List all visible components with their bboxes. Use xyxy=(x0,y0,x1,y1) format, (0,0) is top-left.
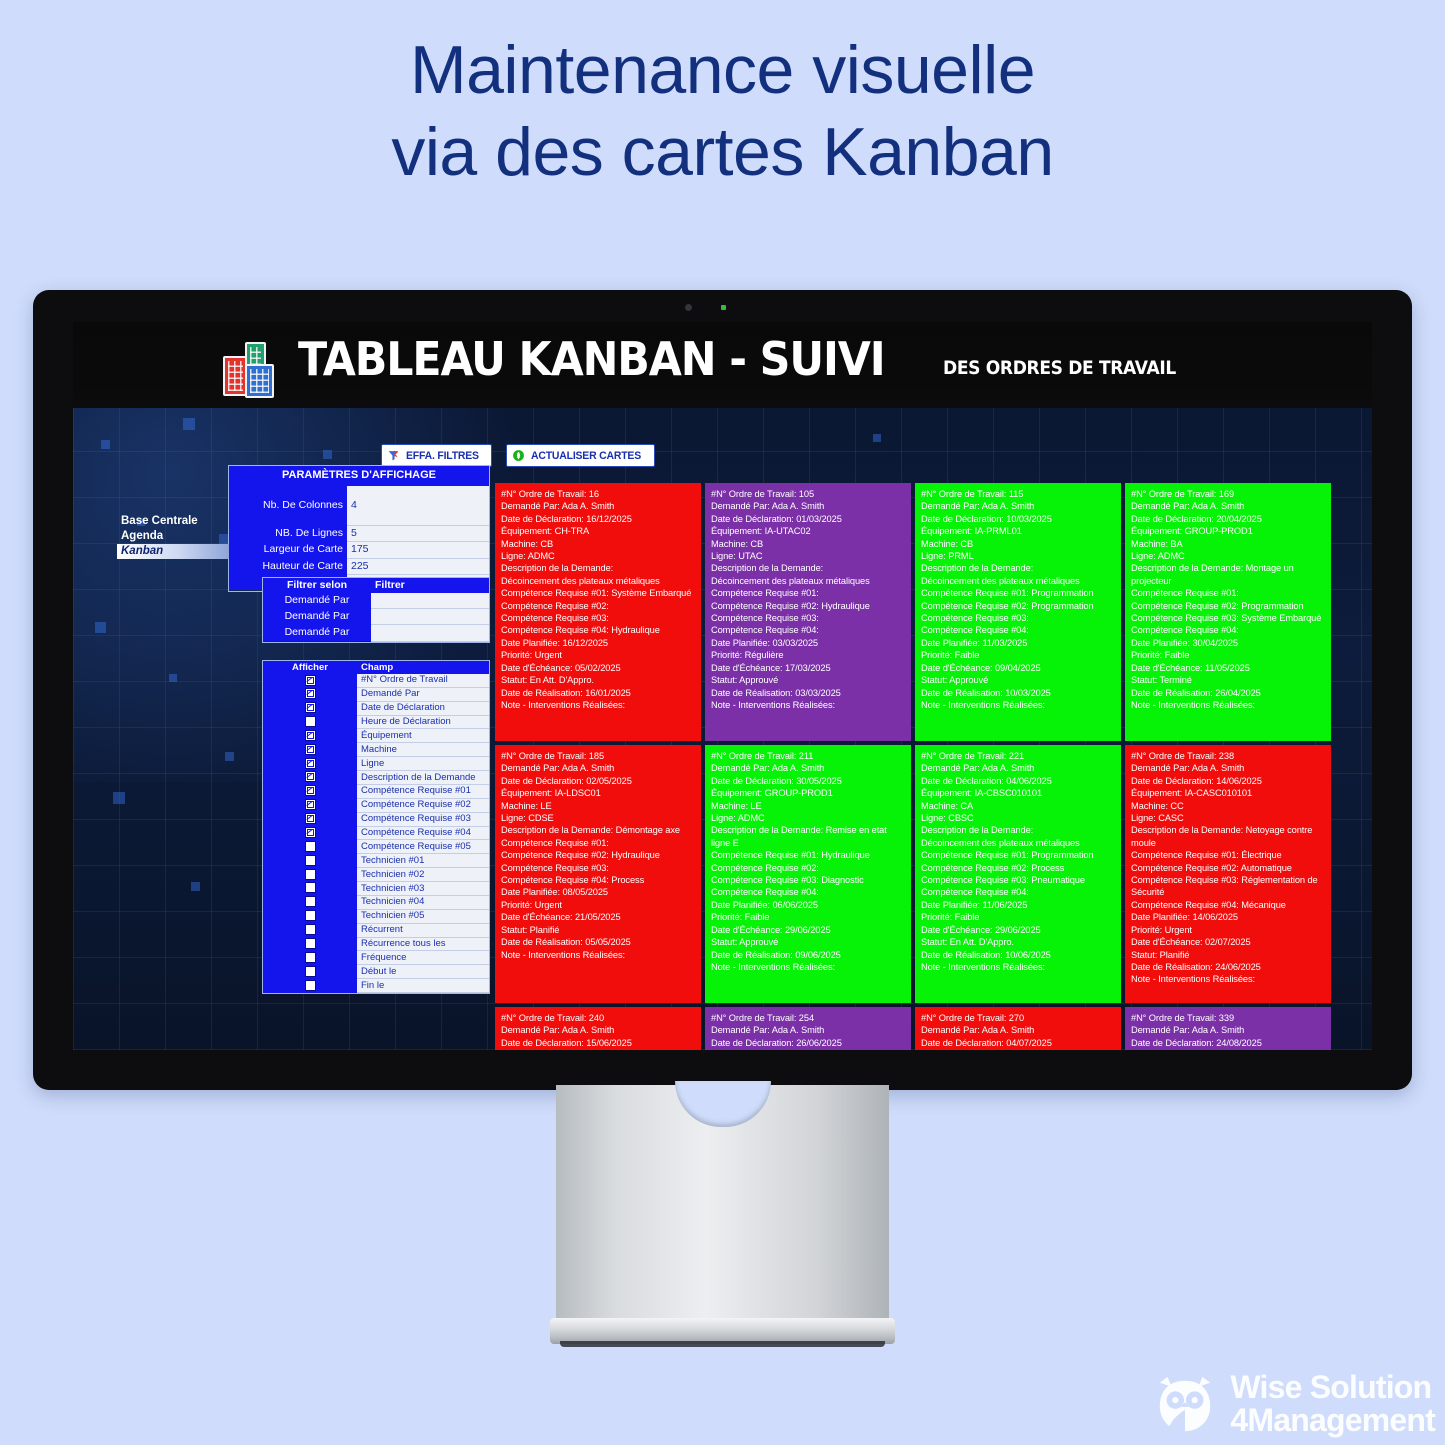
kanban-card-line: #N° Ordre de Travail: 270 xyxy=(921,1012,1115,1024)
kanban-card-line: Ligne: CDSE xyxy=(501,812,695,824)
field-visibility-checkbox-cell[interactable] xyxy=(263,882,357,896)
decor-node xyxy=(873,434,881,442)
table-row: Technicien #03 xyxy=(263,882,489,896)
kanban-card-line: Date d'Échéance: 17/03/2025 xyxy=(711,662,905,674)
kanban-card-line: Machine: BA xyxy=(1131,538,1325,550)
owl-logo-icon xyxy=(1154,1373,1216,1435)
kanban-card-line: Compétence Requise #01: xyxy=(501,837,695,849)
sidebar-item-label: Kanban xyxy=(121,545,163,557)
kanban-card-line: Équipement: IA-LDSC01 xyxy=(501,787,695,799)
kanban-card[interactable]: #N° Ordre de Travail: 16Demandé Par: Ada… xyxy=(495,483,701,741)
field-name-cell: Heure de Déclaration xyxy=(357,715,489,729)
checkbox-unchecked-icon[interactable] xyxy=(305,869,316,880)
field-visibility-checkbox-cell[interactable] xyxy=(263,674,357,687)
kanban-card-line: Date de Déclaration: 04/06/2025 xyxy=(921,775,1115,787)
checkbox-checked-icon[interactable] xyxy=(305,758,316,769)
kanban-card-line: #N° Ordre de Travail: 211 xyxy=(711,750,905,762)
kanban-card-line: Date de Réalisation: 24/06/2025 xyxy=(1131,961,1325,973)
checkbox-unchecked-icon[interactable] xyxy=(305,980,316,991)
field-visibility-checkbox-cell[interactable] xyxy=(263,757,357,771)
sidebar-item-kanban[interactable]: Kanban xyxy=(117,544,229,559)
checkbox-unchecked-icon[interactable] xyxy=(305,952,316,963)
kanban-card-line: Date de Réalisation: 09/06/2025 xyxy=(711,949,905,961)
kanban-card-line: Date de Déclaration: 10/03/2025 xyxy=(921,513,1115,525)
kanban-card-line: Compétence Requise #02: Programmation xyxy=(1131,600,1325,612)
filter-field-2[interactable]: Demandé Par xyxy=(263,625,371,641)
table-row: Demandé Par xyxy=(263,687,489,701)
table-row: Demandé Par xyxy=(263,593,489,609)
kanban-card-line: Machine: CA xyxy=(921,800,1115,812)
kanban-card[interactable]: #N° Ordre de Travail: 211Demandé Par: Ad… xyxy=(705,745,911,1003)
field-visibility-checkbox-cell[interactable] xyxy=(263,715,357,729)
field-name-cell: Compétence Requise #03 xyxy=(357,812,489,826)
kanban-card-line: #N° Ordre de Travail: 115 xyxy=(921,488,1115,500)
filter-panel: Filtrer selon Filtrer Demandé Par Demand… xyxy=(262,577,490,643)
kanban-card-line: Demandé Par: Ada A. Smith xyxy=(1131,762,1325,774)
decor-node xyxy=(169,674,177,682)
monitor-stand-notch xyxy=(675,1081,771,1127)
kanban-card-line: Équipement: IA-CBSC010101 xyxy=(921,787,1115,799)
table-row: Demandé Par xyxy=(263,625,489,641)
field-name-cell: Compétence Requise #01 xyxy=(357,784,489,798)
decor-node xyxy=(183,418,195,430)
filter-field-0[interactable]: Demandé Par xyxy=(263,593,371,609)
checkbox-checked-icon[interactable] xyxy=(305,785,316,796)
kanban-card-line: Note - Interventions Réalisées: xyxy=(921,961,1115,973)
page-title: Maintenance visuelle via des cartes Kanb… xyxy=(0,36,1445,186)
clear-filter-icon xyxy=(387,449,400,462)
kanban-card-line: Compétence Requise #03: xyxy=(711,612,905,624)
field-visibility-checkbox-cell[interactable] xyxy=(263,909,357,923)
kanban-card-line: Date Planifiée: 16/12/2025 xyxy=(501,637,695,649)
kanban-card-line: Demandé Par: Ada A. Smith xyxy=(711,762,905,774)
kanban-card-line: Note - Interventions Réalisées: xyxy=(501,949,695,961)
kanban-card-line: Date de Déclaration: 16/12/2025 xyxy=(501,513,695,525)
field-rows-body: #N° Ordre de TravailDemandé ParDate de D… xyxy=(263,674,489,993)
checkbox-checked-icon[interactable] xyxy=(305,688,316,699)
field-name-cell: Technicien #05 xyxy=(357,909,489,923)
filter-input-0[interactable] xyxy=(371,593,489,609)
decor-node xyxy=(191,882,200,891)
nb-lignes-label: NB. De Lignes xyxy=(229,526,347,542)
kanban-card-line: #N° Ordre de Travail: 185 xyxy=(501,750,695,762)
field-name-cell: Équipement xyxy=(357,729,489,743)
largeur-carte-value[interactable]: 175 xyxy=(347,542,489,558)
checkbox-unchecked-icon[interactable] xyxy=(305,855,316,866)
field-visibility-table: Afficher Champ #N° Ordre de TravailDeman… xyxy=(263,661,489,993)
camera-icon xyxy=(685,304,692,311)
kanban-card-line: Description de la Demande: xyxy=(501,562,695,574)
table-row: NB. De Lignes 5 xyxy=(229,526,489,542)
kanban-card-line: Priorité: Urgent xyxy=(501,649,695,661)
field-name-cell: Fin le xyxy=(357,979,489,993)
field-name-cell: Compétence Requise #05 xyxy=(357,840,489,854)
decor-node xyxy=(323,450,332,459)
field-visibility-checkbox-cell[interactable] xyxy=(263,840,357,854)
table-row: #N° Ordre de Travail xyxy=(263,674,489,687)
field-visibility-checkbox-cell[interactable] xyxy=(263,687,357,701)
field-name-cell: Date de Déclaration xyxy=(357,701,489,715)
field-visibility-checkbox-cell[interactable] xyxy=(263,701,357,715)
kanban-card-line: Date d'Échéance: 21/05/2025 xyxy=(501,911,695,923)
kanban-card-line: Note - Interventions Réalisées: xyxy=(711,961,905,973)
kanban-card-line: #N° Ordre de Travail: 254 xyxy=(711,1012,905,1024)
kanban-card[interactable]: #N° Ordre de Travail: 270Demandé Par: Ad… xyxy=(915,1007,1121,1050)
kanban-card[interactable]: #N° Ordre de Travail: 185Demandé Par: Ad… xyxy=(495,745,701,1003)
kanban-card-line: Compétence Requise #01: Hydraulique xyxy=(711,849,905,861)
checkbox-checked-icon[interactable] xyxy=(305,675,316,686)
table-row: Début le xyxy=(263,965,489,979)
field-visibility-checkbox-cell[interactable] xyxy=(263,937,357,951)
kanban-card-line: Compétence Requise #01: xyxy=(711,587,905,599)
checkbox-unchecked-icon[interactable] xyxy=(305,966,316,977)
kanban-card[interactable]: #N° Ordre de Travail: 240Demandé Par: Ad… xyxy=(495,1007,701,1050)
table-row: Technicien #04 xyxy=(263,895,489,909)
kanban-card-line: Priorité: Faible xyxy=(921,911,1115,923)
kanban-card-line: Description de la Demande: Montage un pr… xyxy=(1131,562,1325,587)
field-visibility-checkbox-cell[interactable] xyxy=(263,965,357,979)
kanban-card-line: Équipement: GROUP-PROD1 xyxy=(1131,525,1325,537)
decor-node xyxy=(95,622,106,633)
screen-content: TABLEAU KANBAN - SUIVI DES ORDRES DE TRA… xyxy=(73,322,1372,1050)
kanban-card-line: Demandé Par: Ada A. Smith xyxy=(921,762,1115,774)
filter-table: Filtrer selon Filtrer Demandé Par Demand… xyxy=(263,578,489,642)
kanban-card-line: Équipement: IA-UTAC02 xyxy=(711,525,905,537)
checkbox-unchecked-icon[interactable] xyxy=(305,882,316,893)
brand-watermark-text: Wise Solution 4Management xyxy=(1230,1371,1435,1437)
kanban-card-line: Statut: Approuvé xyxy=(921,674,1115,686)
kanban-card-line: Description de la Demande: xyxy=(921,824,1115,836)
kanban-card[interactable]: #N° Ordre de Travail: 339Demandé Par: Ad… xyxy=(1125,1007,1331,1050)
table-row: Ligne xyxy=(263,757,489,771)
filter-col1-header: Filtrer selon xyxy=(263,578,371,593)
nb-colonnes-label: Nb. De Colonnes xyxy=(229,486,347,526)
kanban-card[interactable]: #N° Ordre de Travail: 115Demandé Par: Ad… xyxy=(915,483,1121,741)
field-name-cell: Fréquence xyxy=(357,951,489,965)
field-visibility-checkbox-cell[interactable] xyxy=(263,923,357,937)
kanban-card-line: Ligne: ADMC xyxy=(711,812,905,824)
checkbox-unchecked-icon[interactable] xyxy=(305,924,316,935)
kanban-card-line: Date de Déclaration: 24/08/2025 xyxy=(1131,1037,1325,1049)
monitor-frame: TABLEAU KANBAN - SUIVI DES ORDRES DE TRA… xyxy=(33,290,1412,1090)
field-visibility-checkbox-cell[interactable] xyxy=(263,743,357,757)
kanban-card-line: Décoincement des plateaux métaliques xyxy=(921,575,1115,587)
kanban-card-line: Note - Interventions Réalisées: xyxy=(921,699,1115,711)
kanban-card-line: Décoincement des plateaux métaliques xyxy=(921,837,1115,849)
toolbar: EFFA. FILTRES ACTUALISER CARTES xyxy=(381,444,655,467)
checkbox-unchecked-icon[interactable] xyxy=(305,716,316,727)
kanban-card-line: Statut: Terminé xyxy=(1131,674,1325,686)
decor-node xyxy=(113,792,125,804)
nb-colonnes-value[interactable]: 4 xyxy=(347,486,489,526)
table-row: Compétence Requise #05 xyxy=(263,840,489,854)
kanban-card-line: Compétence Requise #03: Réglementation d… xyxy=(1131,874,1325,899)
field-name-cell: Récurrence tous les xyxy=(357,937,489,951)
checkbox-unchecked-icon[interactable] xyxy=(305,841,316,852)
clear-filters-button[interactable]: EFFA. FILTRES xyxy=(381,444,492,467)
kanban-card-line: Compétence Requise #01: Électrique xyxy=(1131,849,1325,861)
sidebar-nav: Base Centrale Agenda Kanban xyxy=(117,514,229,559)
field-visibility-checkbox-cell[interactable] xyxy=(263,812,357,826)
field-visibility-checkbox-cell[interactable] xyxy=(263,868,357,882)
monitor-stand-base-shadow xyxy=(560,1341,885,1347)
table-row: Description de la Demande xyxy=(263,771,489,785)
checkbox-checked-icon[interactable] xyxy=(305,771,316,782)
kanban-card-line: #N° Ordre de Travail: 238 xyxy=(1131,750,1325,762)
kanban-card-line: Demandé Par: Ada A. Smith xyxy=(711,1024,905,1036)
largeur-carte-label: Largeur de Carte xyxy=(229,542,347,558)
hauteur-carte-value[interactable]: 225 xyxy=(347,558,489,574)
kanban-card-line: Date de Déclaration: 14/06/2025 xyxy=(1131,775,1325,787)
kanban-card-line: Date d'Échéance: 29/06/2025 xyxy=(711,924,905,936)
kanban-card-line: Compétence Requise #04: xyxy=(711,886,905,898)
kanban-card-line: Compétence Requise #04: Hydraulique xyxy=(501,624,695,636)
kanban-card-line: Machine: CB xyxy=(921,538,1115,550)
kanban-card-line: Ligne: UTAC xyxy=(711,550,905,562)
kanban-card-line: Priorité: Faible xyxy=(921,649,1115,661)
kanban-card-line: Machine: LE xyxy=(501,800,695,812)
kanban-card-line: Date Planifiée: 03/03/2025 xyxy=(711,637,905,649)
kanban-card-line: Demandé Par: Ada A. Smith xyxy=(1131,1024,1325,1036)
field-visibility-checkbox-cell[interactable] xyxy=(263,854,357,868)
field-visibility-checkbox-cell[interactable] xyxy=(263,729,357,743)
kanban-card-line: Priorité: Faible xyxy=(711,911,905,923)
kanban-card-line: Compétence Requise #04: Mécanique xyxy=(1131,899,1325,911)
refresh-cards-label: ACTUALISER CARTES xyxy=(531,450,641,462)
kanban-card-line: Description de la Demande: xyxy=(711,562,905,574)
filter-input-1[interactable] xyxy=(371,609,489,625)
filter-col2-header: Filtrer xyxy=(371,578,489,593)
field-name-cell: #N° Ordre de Travail xyxy=(357,674,489,687)
status-led-icon xyxy=(721,305,726,310)
filter-field-1[interactable]: Demandé Par xyxy=(263,609,371,625)
decor-node xyxy=(101,440,110,449)
kanban-card-line: Note - Interventions Réalisées: xyxy=(1131,973,1325,985)
page-title-line-2: via des cartes Kanban xyxy=(0,118,1445,186)
checkbox-unchecked-icon[interactable] xyxy=(305,910,316,921)
kanban-board: #N° Ordre de Travail: 16Demandé Par: Ada… xyxy=(495,483,1341,1050)
kanban-card-line: Demandé Par: Ada A. Smith xyxy=(921,1024,1115,1036)
kanban-card-line: Équipement: CH-TRA xyxy=(501,525,695,537)
kanban-card-line: Équipement: IA-CASC010101 xyxy=(921,1049,1115,1050)
checkbox-checked-icon[interactable] xyxy=(305,702,316,713)
kanban-card-line: Date de Déclaration: 20/04/2025 xyxy=(1131,513,1325,525)
kanban-card-line: Date de Réalisation: 16/01/2025 xyxy=(501,687,695,699)
refresh-cards-button[interactable]: ACTUALISER CARTES xyxy=(506,444,656,467)
kanban-card-line: Compétence Requise #02: xyxy=(711,862,905,874)
kanban-card-line: Note - Interventions Réalisées: xyxy=(501,699,695,711)
kanban-card-line: Compétence Requise #04: xyxy=(921,886,1115,898)
kanban-card-line: Date de Déclaration: 01/03/2025 xyxy=(711,513,905,525)
kanban-card-line: Machine: LE xyxy=(711,800,905,812)
kanban-card-line: Compétence Requise #02: Programmation xyxy=(921,600,1115,612)
kanban-card-line: Date Planifiée: 08/05/2025 xyxy=(501,886,695,898)
kanban-card-line: #N° Ordre de Travail: 169 xyxy=(1131,488,1325,500)
kanban-card-line: Date d'Échéance: 29/06/2025 xyxy=(921,924,1115,936)
kanban-card-line: Compétence Requise #01: Système Embarqué xyxy=(501,587,695,599)
kanban-card-line: Décoincement des plateaux métaliques xyxy=(501,575,695,587)
field-visibility-checkbox-cell[interactable] xyxy=(263,798,357,812)
kanban-card-line: Priorité: Faible xyxy=(1131,649,1325,661)
kanban-card-line: Équipement: IA-CBSC010101 xyxy=(501,1049,695,1050)
kanban-card-line: Date Planifiée: 06/06/2025 xyxy=(711,899,905,911)
kanban-card-line: Demandé Par: Ada A. Smith xyxy=(501,500,695,512)
kanban-blocks-logo-icon xyxy=(223,342,283,394)
field-visibility-checkbox-cell[interactable] xyxy=(263,895,357,909)
kanban-card-line: #N° Ordre de Travail: 240 xyxy=(501,1012,695,1024)
kanban-card-line: Ligne: CBSC xyxy=(921,812,1115,824)
kanban-card-line: Date de Réalisation: 26/04/2025 xyxy=(1131,687,1325,699)
kanban-card-line: Ligne: PRML xyxy=(921,550,1115,562)
kanban-card-line: Date Planifiée: 11/06/2025 xyxy=(921,899,1115,911)
field-name-cell: Compétence Requise #04 xyxy=(357,826,489,840)
kanban-card-line: Date de Réalisation: 05/05/2025 xyxy=(501,936,695,948)
kanban-card-line: Décoincement des plateaux métaliques xyxy=(711,575,905,587)
field-visibility-checkbox-cell[interactable] xyxy=(263,979,357,993)
kanban-card-line: Date d'Échéance: 05/02/2025 xyxy=(501,662,695,674)
kanban-card-line: Priorité: Urgent xyxy=(501,899,695,911)
kanban-card-line: Compétence Requise #02: Process xyxy=(921,862,1115,874)
kanban-card-line: Compétence Requise #01: Programmation xyxy=(921,587,1115,599)
kanban-card-line: Statut: En Att. D'Appro. xyxy=(921,936,1115,948)
filter-input-2[interactable] xyxy=(371,625,489,641)
kanban-card[interactable]: #N° Ordre de Travail: 169Demandé Par: Ad… xyxy=(1125,483,1331,741)
kanban-card-line: Date de Déclaration: 30/05/2025 xyxy=(711,775,905,787)
brand-line-1: Wise Solution xyxy=(1230,1371,1435,1404)
display-parameters-panel: PARAMÈTRES D'AFFICHAGE Nb. De Colonnes 4… xyxy=(228,465,490,592)
refresh-circle-icon xyxy=(512,449,525,462)
kanban-card[interactable]: #N° Ordre de Travail: 105Demandé Par: Ad… xyxy=(705,483,911,741)
table-row: Fin le xyxy=(263,979,489,993)
checkbox-checked-icon[interactable] xyxy=(305,744,316,755)
decor-node xyxy=(225,752,234,761)
kanban-card-line: #N° Ordre de Travail: 16 xyxy=(501,488,695,500)
app-subtitle: DES ORDRES DE TRAVAIL xyxy=(943,359,1176,378)
kanban-card-line: Priorité: Régulière xyxy=(711,649,905,661)
clear-filters-label: EFFA. FILTRES xyxy=(406,450,479,462)
kanban-card-line: Description de la Demande: xyxy=(921,562,1115,574)
field-name-cell: Récurrent xyxy=(357,923,489,937)
kanban-card-line: Date d'Échéance: 09/04/2025 xyxy=(921,662,1115,674)
kanban-card-line: Équipement: IA-CCSC010101 xyxy=(1131,1049,1325,1050)
field-visibility-checkbox-cell[interactable] xyxy=(263,771,357,785)
hauteur-carte-label: Hauteur de Carte xyxy=(229,558,347,574)
kanban-card-line: Date Planifiée: 11/03/2025 xyxy=(921,637,1115,649)
sidebar-item-agenda[interactable]: Agenda xyxy=(117,529,229,544)
checkbox-checked-icon[interactable] xyxy=(305,730,316,741)
table-row: Récurrent xyxy=(263,923,489,937)
afficher-header: Afficher xyxy=(263,661,357,674)
sidebar-item-base-centrale[interactable]: Base Centrale xyxy=(117,514,229,529)
kanban-card-line: Compétence Requise #03: xyxy=(921,612,1115,624)
monitor-stand-neck xyxy=(556,1085,889,1325)
kanban-card[interactable]: #N° Ordre de Travail: 238Demandé Par: Ad… xyxy=(1125,745,1331,1003)
field-name-cell: Début le xyxy=(357,965,489,979)
checkbox-checked-icon[interactable] xyxy=(305,813,316,824)
kanban-card-line: Date de Réalisation: 03/03/2025 xyxy=(711,687,905,699)
kanban-card-line: Statut: Approuvé xyxy=(711,674,905,686)
kanban-card-line: Compétence Requise #03: xyxy=(501,862,695,874)
checkbox-unchecked-icon[interactable] xyxy=(305,938,316,949)
table-row: Demandé Par xyxy=(263,609,489,625)
kanban-card[interactable]: #N° Ordre de Travail: 221Demandé Par: Ad… xyxy=(915,745,1121,1003)
kanban-card-line: Compétence Requise #04: xyxy=(921,624,1115,636)
kanban-card-line: Compétence Requise #02: Hydraulique xyxy=(501,849,695,861)
field-visibility-checkbox-cell[interactable] xyxy=(263,784,357,798)
kanban-card-line: Compétence Requise #02: Automatique xyxy=(1131,862,1325,874)
kanban-card-line: Date de Déclaration: 26/06/2025 xyxy=(711,1037,905,1049)
table-row: Hauteur de Carte 225 xyxy=(229,558,489,574)
kanban-card[interactable]: #N° Ordre de Travail: 254Demandé Par: Ad… xyxy=(705,1007,911,1050)
kanban-card-line: #N° Ordre de Travail: 339 xyxy=(1131,1012,1325,1024)
kanban-card-line: Compétence Requise #04: xyxy=(1131,624,1325,636)
kanban-card-line: Note - Interventions Réalisées: xyxy=(1131,699,1325,711)
field-name-cell: Ligne xyxy=(357,757,489,771)
kanban-card-line: Date de Déclaration: 04/07/2025 xyxy=(921,1037,1115,1049)
kanban-card-line: Date d'Échéance: 11/05/2025 xyxy=(1131,662,1325,674)
kanban-card-line: Machine: CC xyxy=(1131,800,1325,812)
kanban-card-line: Date de Réalisation: 10/03/2025 xyxy=(921,687,1115,699)
checkbox-unchecked-icon[interactable] xyxy=(305,896,316,907)
app-title: TABLEAU KANBAN - SUIVI xyxy=(298,336,885,382)
table-row: Équipement xyxy=(263,729,489,743)
display-parameters-title: PARAMÈTRES D'AFFICHAGE xyxy=(229,466,489,486)
table-row: Technicien #01 xyxy=(263,854,489,868)
app-title-block: TABLEAU KANBAN - SUIVI DES ORDRES DE TRA… xyxy=(298,336,1201,382)
field-visibility-checkbox-cell[interactable] xyxy=(263,826,357,840)
field-name-cell: Machine xyxy=(357,743,489,757)
kanban-card-line: Compétence Requise #04: xyxy=(711,624,905,636)
field-name-cell: Technicien #04 xyxy=(357,895,489,909)
kanban-card-line: Date Planifiée: 30/04/2025 xyxy=(1131,637,1325,649)
field-name-cell: Description de la Demande xyxy=(357,771,489,785)
kanban-card-line: Compétence Requise #04: Process xyxy=(501,874,695,886)
kanban-card-line: Compétence Requise #01: Programmation xyxy=(921,849,1115,861)
table-row: Fréquence xyxy=(263,951,489,965)
kanban-card-line: Équipement: GROUP-PROD1 xyxy=(711,787,905,799)
sidebar-item-label: Base Centrale xyxy=(121,515,198,527)
kanban-card-line: Machine: CB xyxy=(501,538,695,550)
table-row: Date de Déclaration xyxy=(263,701,489,715)
field-name-cell: Demandé Par xyxy=(357,687,489,701)
brand-line-2: 4Management xyxy=(1230,1404,1435,1437)
table-row: Compétence Requise #02 xyxy=(263,798,489,812)
table-row: Technicien #02 xyxy=(263,868,489,882)
kanban-card-line: Date Planifiée: 14/06/2025 xyxy=(1131,911,1325,923)
kanban-card-line: Statut: Planifié xyxy=(1131,949,1325,961)
table-row: Compétence Requise #01 xyxy=(263,784,489,798)
kanban-card-line: Ligne: CASC xyxy=(1131,812,1325,824)
table-row: Machine xyxy=(263,743,489,757)
checkbox-checked-icon[interactable] xyxy=(305,827,316,838)
checkbox-checked-icon[interactable] xyxy=(305,799,316,810)
nb-lignes-value[interactable]: 5 xyxy=(347,526,489,542)
kanban-card-line: Statut: Approuvé xyxy=(711,936,905,948)
app-header: TABLEAU KANBAN - SUIVI DES ORDRES DE TRA… xyxy=(73,322,1372,408)
kanban-card-line: Compétence Requise #01: xyxy=(1131,587,1325,599)
field-visibility-checkbox-cell[interactable] xyxy=(263,951,357,965)
kanban-card-line: Demandé Par: Ada A. Smith xyxy=(921,500,1115,512)
kanban-card-line: Statut: En Att. D'Appro. xyxy=(501,674,695,686)
field-name-cell: Technicien #02 xyxy=(357,868,489,882)
kanban-card-line: Compétence Requise #03: Système Embarqué xyxy=(1131,612,1325,624)
champ-header: Champ xyxy=(357,661,489,674)
kanban-card-line: Date de Réalisation: 10/06/2025 xyxy=(921,949,1115,961)
kanban-card-line: Compétence Requise #03: xyxy=(501,612,695,624)
display-parameters-table: PARAMÈTRES D'AFFICHAGE Nb. De Colonnes 4… xyxy=(229,466,489,591)
field-name-cell: Compétence Requise #02 xyxy=(357,798,489,812)
kanban-card-line: Équipement: IA-PRML01 xyxy=(921,525,1115,537)
